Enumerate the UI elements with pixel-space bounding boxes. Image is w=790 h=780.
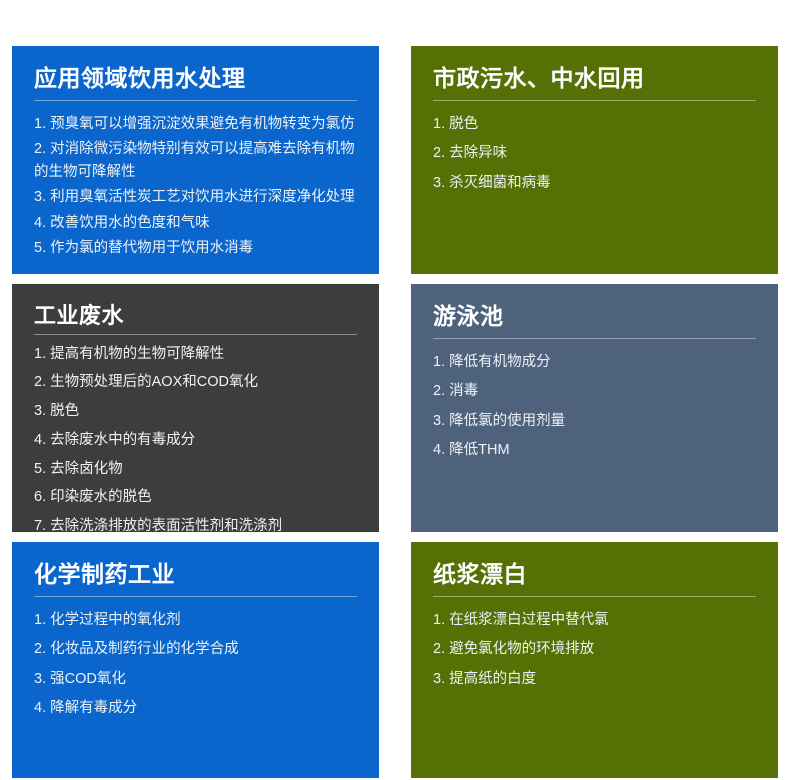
list-item: 5. 去除卤化物 xyxy=(34,459,357,481)
title-divider xyxy=(34,334,357,335)
panel-swimming-pool: 游泳池 1. 降低有机物成分 2. 消毒 3. 降低氯的使用剂量 4. 降低TH… xyxy=(411,284,778,532)
panel-list-chemical-pharmaceutical: 1. 化学过程中的氧化剂 2. 化妆品及制药行业的化学合成 3. 强COD氧化 … xyxy=(34,609,357,721)
panel-list-industrial-wastewater: 1. 提高有机物的生物可降解性 2. 生物预处理后的AOX和COD氧化 3. 脱… xyxy=(34,344,357,533)
list-item: 2. 对消除微污染物特别有效可以提高难去除有机物的生物可降解性 xyxy=(34,138,357,184)
list-item: 3. 利用臭氧活性炭工艺对饮用水进行深度净化处理 xyxy=(34,186,357,209)
list-item: 4. 降解有毒成分 xyxy=(34,697,357,720)
panel-list-pulp-bleaching: 1. 在纸浆漂白过程中替代氯 2. 避免氯化物的环境排放 3. 提高纸的白度 xyxy=(433,609,756,691)
list-item: 2. 避免氯化物的环境排放 xyxy=(433,638,756,661)
list-item: 1. 化学过程中的氧化剂 xyxy=(34,609,357,632)
panel-drinking-water: 应用领域饮用水处理 1. 预臭氧可以增强沉淀效果避免有机物转变为氯仿 2. 对消… xyxy=(12,46,379,274)
title-divider xyxy=(433,596,756,597)
list-item: 3. 脱色 xyxy=(34,401,357,423)
list-item: 3. 提高纸的白度 xyxy=(433,668,756,691)
panel-title-municipal-sewage: 市政污水、中水回用 xyxy=(433,64,756,93)
list-item: 4. 去除废水中的有毒成分 xyxy=(34,430,357,452)
list-item: 2. 去除异味 xyxy=(433,142,756,165)
panel-list-drinking-water: 1. 预臭氧可以增强沉淀效果避免有机物转变为氯仿 2. 对消除微污染物特别有效可… xyxy=(34,113,357,260)
title-divider xyxy=(433,100,756,101)
list-item: 1. 预臭氧可以增强沉淀效果避免有机物转变为氯仿 xyxy=(34,113,357,136)
list-item: 3. 杀灭细菌和病毒 xyxy=(433,172,756,195)
list-item: 3. 降低氯的使用剂量 xyxy=(433,410,756,433)
panel-title-swimming-pool: 游泳池 xyxy=(433,302,756,331)
list-item: 3. 强COD氧化 xyxy=(34,668,357,691)
panel-list-swimming-pool: 1. 降低有机物成分 2. 消毒 3. 降低氯的使用剂量 4. 降低THM xyxy=(433,351,756,463)
application-areas-grid: 应用领域饮用水处理 1. 预臭氧可以增强沉淀效果避免有机物转变为氯仿 2. 对消… xyxy=(0,0,790,780)
panel-list-municipal-sewage: 1. 脱色 2. 去除异味 3. 杀灭细菌和病毒 xyxy=(433,113,756,195)
list-item: 1. 降低有机物成分 xyxy=(433,351,756,374)
list-item: 7. 去除洗涤排放的表面活性剂和洗涤剂 xyxy=(34,516,357,532)
list-item: 4. 改善饮用水的色度和气味 xyxy=(34,212,357,235)
panel-title-drinking-water: 应用领域饮用水处理 xyxy=(34,64,357,93)
list-item: 4. 降低THM xyxy=(433,439,756,462)
list-item: 1. 在纸浆漂白过程中替代氯 xyxy=(433,609,756,632)
panel-pulp-bleaching: 纸浆漂白 1. 在纸浆漂白过程中替代氯 2. 避免氯化物的环境排放 3. 提高纸… xyxy=(411,542,778,778)
list-item: 2. 消毒 xyxy=(433,380,756,403)
panel-title-industrial-wastewater: 工业废水 xyxy=(34,302,357,330)
panel-title-pulp-bleaching: 纸浆漂白 xyxy=(433,560,756,589)
panel-industrial-wastewater: 工业废水 1. 提高有机物的生物可降解性 2. 生物预处理后的AOX和COD氧化… xyxy=(12,284,379,532)
list-item: 1. 脱色 xyxy=(433,113,756,136)
title-divider xyxy=(34,100,357,101)
panel-title-chemical-pharmaceutical: 化学制药工业 xyxy=(34,560,357,589)
list-item: 2. 化妆品及制药行业的化学合成 xyxy=(34,638,357,661)
title-divider xyxy=(433,338,756,339)
list-item: 1. 提高有机物的生物可降解性 xyxy=(34,344,357,366)
list-item: 6. 印染废水的脱色 xyxy=(34,487,357,509)
list-item: 5. 作为氯的替代物用于饮用水消毒 xyxy=(34,237,357,260)
panel-chemical-pharmaceutical: 化学制药工业 1. 化学过程中的氧化剂 2. 化妆品及制药行业的化学合成 3. … xyxy=(12,542,379,778)
list-item: 2. 生物预处理后的AOX和COD氧化 xyxy=(34,372,357,394)
title-divider xyxy=(34,596,357,597)
panel-municipal-sewage: 市政污水、中水回用 1. 脱色 2. 去除异味 3. 杀灭细菌和病毒 xyxy=(411,46,778,274)
